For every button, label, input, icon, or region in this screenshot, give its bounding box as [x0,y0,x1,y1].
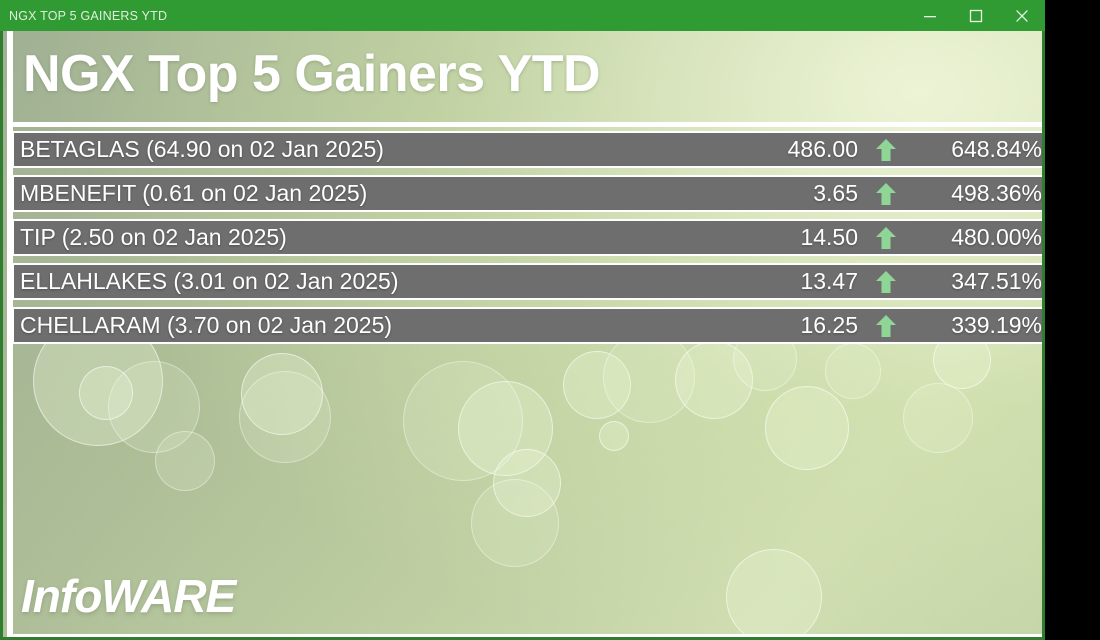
bokeh-circle [471,479,559,567]
change-percent: 339.19% [914,312,1042,339]
bokeh-circle [825,343,881,399]
table-row[interactable]: CHELLARAM (3.70 on 02 Jan 2025) 16.25 33… [12,307,1045,344]
table-row[interactable]: ELLAHLAKES (3.01 on 02 Jan 2025) 13.47 3… [12,263,1045,300]
price-value: 16.25 [740,312,858,339]
table-row[interactable]: BETAGLAS (64.90 on 02 Jan 2025) 486.00 6… [12,131,1045,168]
bokeh-circle [241,353,323,435]
arrow-up-icon [875,138,897,162]
price-value: 3.65 [740,180,858,207]
window-title: NGX TOP 5 GAINERS YTD [9,9,167,23]
app-window: NGX TOP 5 GAINERS YTD [0,0,1100,640]
arrow-up-icon [875,182,897,206]
minimize-button[interactable] [907,0,953,31]
row-values: 3.65 498.36% [740,180,1045,207]
bokeh-circle [563,351,631,419]
direction-indicator [858,270,914,294]
bokeh-circle [675,341,753,419]
direction-indicator [858,182,914,206]
bokeh-circle [155,431,215,491]
maximize-icon [969,9,983,23]
gainers-table: BETAGLAS (64.90 on 02 Jan 2025) 486.00 6… [12,131,1045,351]
direction-indicator [858,138,914,162]
row-values: 14.50 480.00% [740,224,1045,251]
bokeh-circle [458,381,553,476]
ticker-label: BETAGLAS (64.90 on 02 Jan 2025) [20,136,384,163]
price-value: 14.50 [740,224,858,251]
ticker-label: CHELLARAM (3.70 on 02 Jan 2025) [20,312,392,339]
table-row[interactable]: MBENEFIT (0.61 on 02 Jan 2025) 3.65 498.… [12,175,1045,212]
direction-indicator [858,314,914,338]
minimize-icon [923,9,937,23]
bokeh-circle [903,383,973,453]
table-row[interactable]: TIP (2.50 on 02 Jan 2025) 14.50 480.00% [12,219,1045,256]
brand-logo: InfoWARE [21,569,235,623]
change-percent: 648.84% [914,136,1042,163]
page-title: NGX Top 5 Gainers YTD [23,44,600,104]
slide-frame-bottom [7,634,1042,637]
change-percent: 347.51% [914,268,1042,295]
slide-canvas: NGX Top 5 Gainers YTD BETAGLAS (64.90 on… [0,31,1045,640]
arrow-up-icon [875,270,897,294]
ticker-label: ELLAHLAKES (3.01 on 02 Jan 2025) [20,268,398,295]
arrow-up-icon [875,314,897,338]
change-percent: 480.00% [914,224,1042,251]
bokeh-circle [403,361,523,481]
row-values: 13.47 347.51% [740,268,1045,295]
direction-indicator [858,226,914,250]
row-values: 486.00 648.84% [740,136,1045,163]
price-value: 13.47 [740,268,858,295]
title-divider [11,122,1045,127]
bokeh-circle [79,366,133,420]
bokeh-circle [726,549,822,640]
bokeh-circle [765,386,849,470]
close-button[interactable] [999,0,1045,31]
bokeh-circle [239,371,331,463]
row-values: 16.25 339.19% [740,312,1045,339]
maximize-button[interactable] [953,0,999,31]
ticker-label: TIP (2.50 on 02 Jan 2025) [20,224,287,251]
arrow-up-icon [875,226,897,250]
bokeh-circle [108,361,200,453]
window-controls [907,0,1045,31]
close-icon [1015,9,1029,23]
price-value: 486.00 [740,136,858,163]
bokeh-circle [599,421,629,451]
bokeh-circle [493,449,561,517]
ticker-label: MBENEFIT (0.61 on 02 Jan 2025) [20,180,367,207]
change-percent: 498.36% [914,180,1042,207]
window-titlebar[interactable]: NGX TOP 5 GAINERS YTD [0,0,1045,31]
